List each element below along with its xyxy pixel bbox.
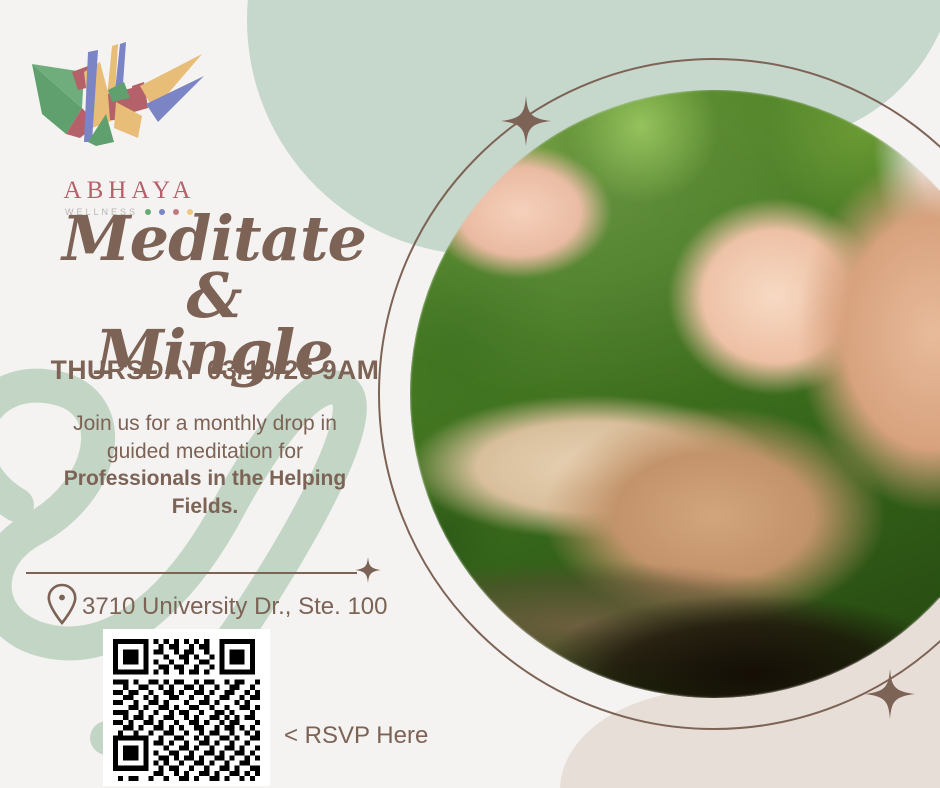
sparkle-icon — [864, 668, 916, 720]
event-datetime: THURSDAY 03/19/26 9AM — [20, 355, 410, 386]
venue-address: 3710 University Dr., Ste. 100 — [46, 582, 387, 631]
map-pin-icon — [46, 582, 78, 631]
rsvp-qr-code[interactable] — [103, 629, 270, 786]
origami-crane-logo — [22, 42, 222, 182]
flyer-canvas: ABHAYA WELLNESS Meditate & Mingle THURSD… — [0, 0, 940, 788]
brand-name: ABHAYA — [22, 178, 232, 203]
address-text: 3710 University Dr., Ste. 100 — [82, 593, 387, 621]
event-description: Join us for a monthly drop in guided med… — [40, 410, 370, 521]
description-bold: Professionals in the Helping Fields. — [64, 467, 346, 518]
description-regular: Join us for a monthly drop in guided med… — [73, 412, 337, 463]
divider-line — [26, 572, 357, 574]
event-title-line1: Meditate & — [62, 202, 366, 332]
brand-logo: ABHAYA WELLNESS — [22, 42, 232, 217]
meditation-lotus-pose-photo — [410, 90, 940, 698]
sparkle-icon — [500, 95, 552, 147]
rsvp-label[interactable]: < RSVP Here — [284, 722, 428, 750]
